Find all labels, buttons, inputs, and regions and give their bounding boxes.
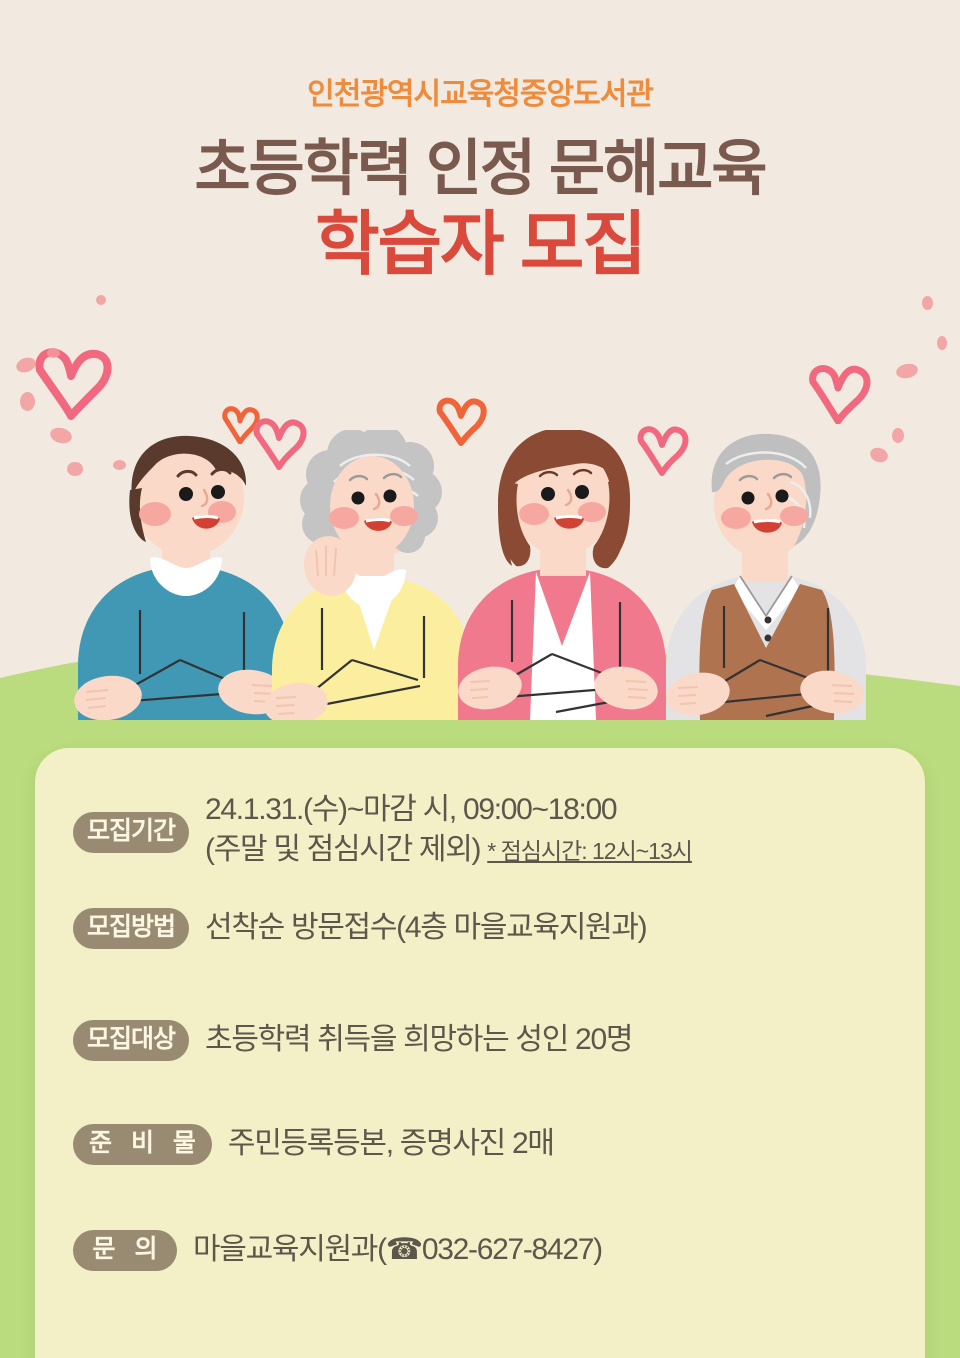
row-label-badge: 모집대상 [73,1020,189,1061]
petal-dot [895,362,919,380]
row-value: 초등학력 취득을 희망하는 성인 20명 [205,1020,632,1060]
petal-dot [47,348,60,358]
row-value: 마을교육지원과(☎032-627-8427) [193,1230,602,1270]
info-row-recruitment-period: 모집기간 24.1.31.(수)~마감 시, 09:00~18:00 (주말 및… [73,790,692,869]
info-panel: 모집기간 24.1.31.(수)~마감 시, 09:00~18:00 (주말 및… [35,748,925,1358]
person-1 [71,436,292,720]
petal-dot [922,296,933,310]
heart-icon [802,358,876,424]
row-value-line-2-wrap: (주말 및 점심시간 제외) * 점심시간: 12시~13시 [205,830,692,870]
row-label-badge: 모집방법 [73,908,189,949]
row-value: 주민등록등본, 증명사진 2매 [228,1124,554,1164]
person-3 [455,430,666,720]
info-row-required-documents: 준 비 물 주민등록등본, 증명사진 2매 [73,1124,554,1165]
people-illustration [0,430,960,720]
petal-dot [96,295,106,305]
info-row-contact: 문 의 마을교육지원과(☎032-627-8427) [73,1230,602,1271]
row-value-note: * 점심시간: 12시~13시 [487,838,692,864]
row-value-line-1: 24.1.31.(수)~마감 시, 09:00~18:00 [205,790,692,830]
title-line-2: 학습자 모집 [0,208,960,282]
title-line-1: 초등학력 인정 문해교육 [0,136,960,200]
info-row-application-method: 모집방법 선착순 방문접수(4층 마을교육지원과) [73,908,646,949]
row-label-badge: 준 비 물 [73,1124,212,1165]
person-4 [663,434,867,720]
heart-icon [28,340,118,420]
petal-dot [937,336,947,350]
row-value-line-2: (주말 및 점심시간 제외) [205,833,480,866]
poster-root: 인천광역시교육청중앙도서관 초등학력 인정 문해교육 학습자 모집 [0,0,960,1358]
row-label-badge: 모집기간 [73,812,189,853]
row-value: 24.1.31.(수)~마감 시, 09:00~18:00 (주말 및 점심시간… [205,790,692,869]
info-row-target-audience: 모집대상 초등학력 취득을 희망하는 성인 20명 [73,1020,632,1061]
petal-dot [20,392,35,411]
organization-name: 인천광역시교육청중앙도서관 [0,80,960,110]
row-label-badge: 문 의 [73,1230,177,1271]
poster-header: 인천광역시교육청중앙도서관 초등학력 인정 문해교육 학습자 모집 [0,0,960,282]
person-2 [261,430,472,720]
row-value: 선착순 방문접수(4층 마을교육지원과) [205,908,646,948]
